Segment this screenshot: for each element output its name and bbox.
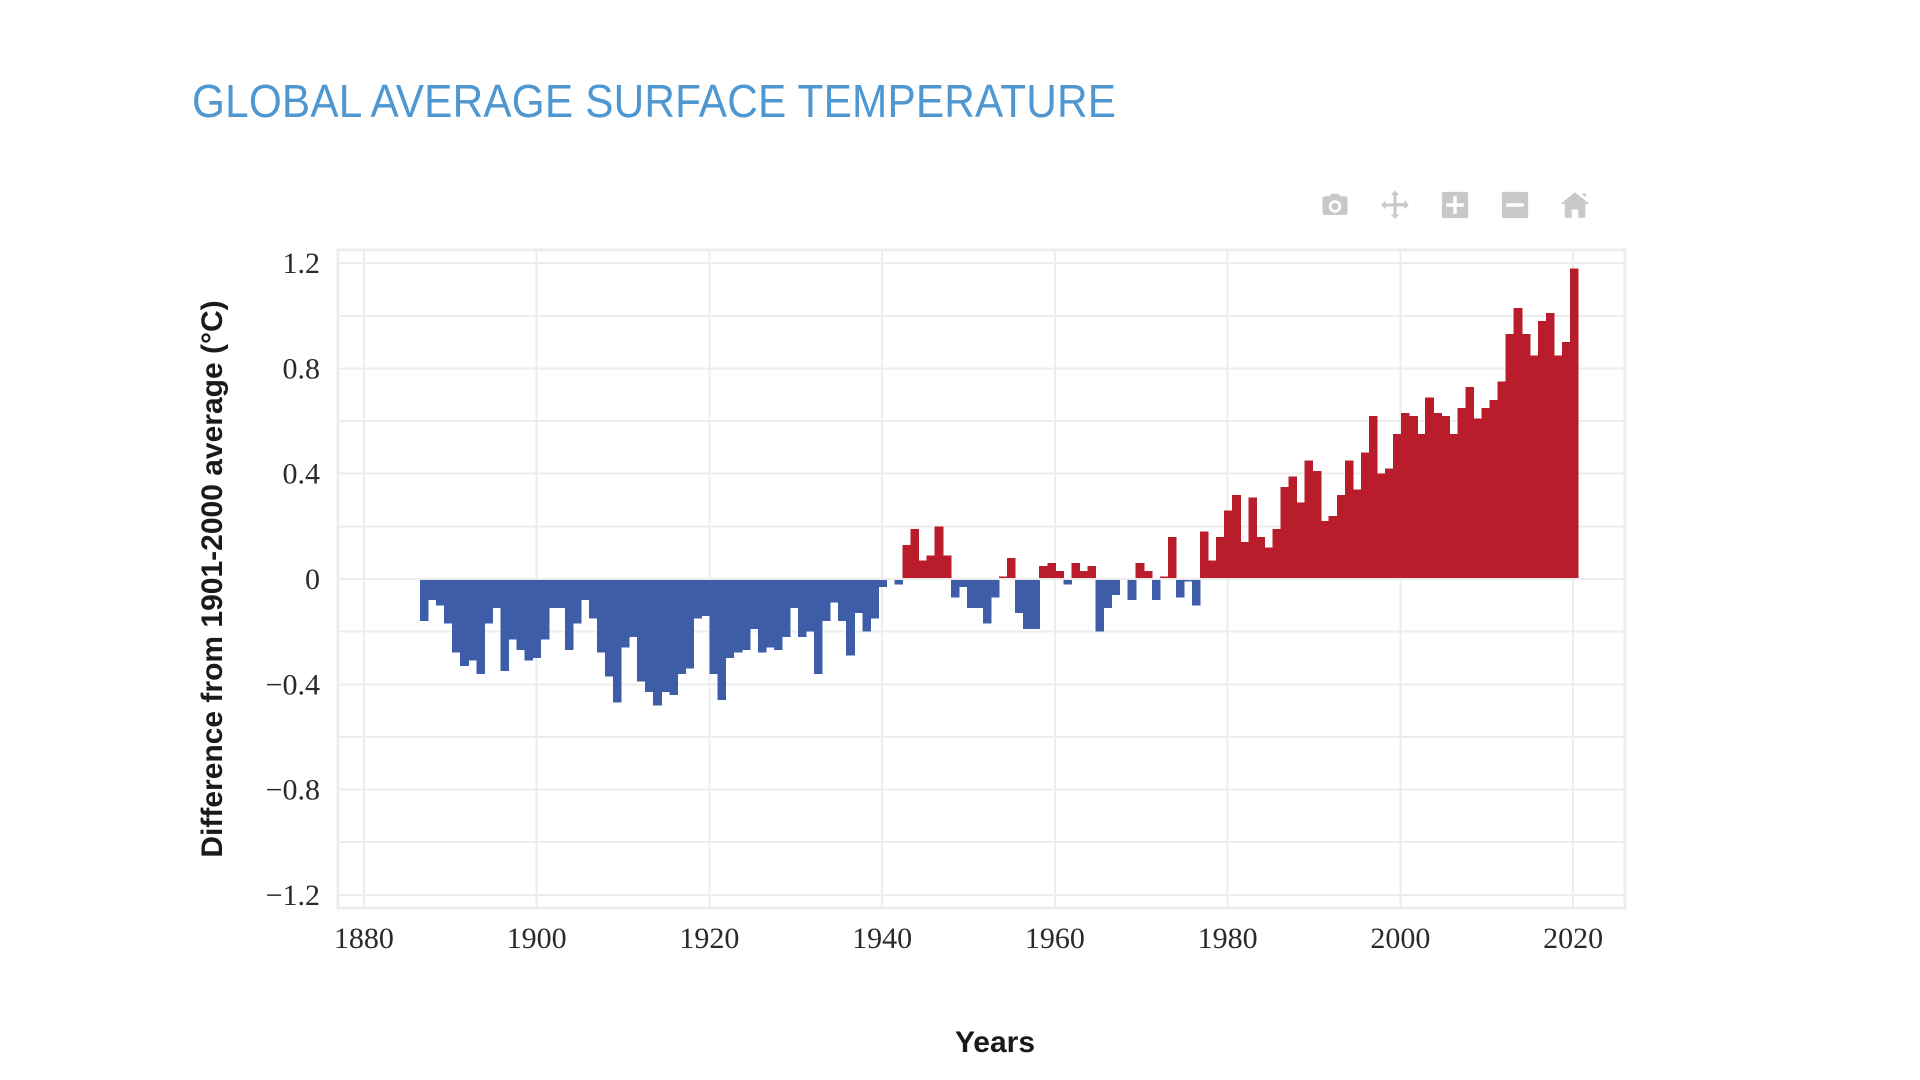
y-axis-title: Difference from 1901-2000 average (°C) (196, 300, 229, 857)
bar[interactable] (967, 579, 976, 608)
bar[interactable] (565, 579, 574, 650)
bar[interactable] (500, 579, 509, 671)
bar[interactable] (830, 579, 839, 603)
bar[interactable] (460, 579, 469, 666)
bar[interactable] (718, 579, 727, 700)
y-tick-label: 0.4 (283, 458, 321, 491)
bar[interactable] (1071, 563, 1080, 579)
temperature-anomaly-chart: 1.20.80.40−0.4−0.8−1.2 18801900192019401… (0, 0, 1920, 1080)
bar[interactable] (1047, 563, 1056, 579)
bar[interactable] (798, 579, 807, 637)
bar[interactable] (935, 526, 944, 579)
bar[interactable] (637, 579, 646, 682)
bar[interactable] (1538, 321, 1547, 579)
bar[interactable] (959, 579, 968, 587)
bar[interactable] (1498, 382, 1507, 579)
bar[interactable] (1136, 563, 1145, 579)
bar[interactable] (436, 579, 445, 605)
bar[interactable] (1297, 503, 1306, 579)
bar[interactable] (774, 579, 783, 650)
bar[interactable] (750, 579, 759, 629)
y-tick-label: −0.8 (266, 774, 320, 807)
bar[interactable] (1441, 416, 1450, 579)
bar[interactable] (1321, 521, 1330, 579)
bar[interactable] (1313, 471, 1322, 579)
bar[interactable] (1023, 579, 1032, 629)
bar[interactable] (927, 555, 936, 579)
bar[interactable] (1554, 355, 1563, 579)
bar[interactable] (1514, 308, 1523, 579)
x-tick-label: 1880 (334, 922, 394, 955)
bar[interactable] (806, 579, 815, 632)
bar[interactable] (814, 579, 823, 674)
x-tick-label: 1920 (679, 922, 739, 955)
bar[interactable] (1248, 497, 1257, 579)
bar[interactable] (1200, 532, 1209, 579)
x-axis-ticks: 18801900192019401960198020002020 (334, 922, 1603, 955)
x-tick-label: 2020 (1543, 922, 1603, 955)
bar[interactable] (1369, 416, 1378, 579)
bar[interactable] (822, 579, 831, 621)
bar[interactable] (1055, 571, 1064, 579)
bar[interactable] (573, 579, 582, 624)
bar[interactable] (870, 579, 879, 618)
bar[interactable] (508, 579, 517, 640)
x-tick-label: 1900 (507, 922, 567, 955)
bar[interactable] (597, 579, 606, 653)
bar[interactable] (846, 579, 855, 655)
bar[interactable] (621, 579, 630, 647)
bar[interactable] (549, 579, 558, 608)
x-tick-label: 2000 (1370, 922, 1430, 955)
bar[interactable] (669, 579, 678, 695)
bar[interactable] (1305, 461, 1314, 579)
bar[interactable] (943, 555, 952, 579)
bar[interactable] (645, 579, 654, 692)
bar[interactable] (1216, 537, 1225, 579)
bar[interactable] (1224, 511, 1233, 579)
bar[interactable] (1240, 542, 1249, 579)
y-tick-label: −0.4 (266, 668, 320, 701)
bar[interactable] (605, 579, 614, 676)
bar[interactable] (919, 561, 928, 579)
bar[interactable] (1329, 516, 1338, 579)
bar[interactable] (1522, 334, 1531, 579)
bar[interactable] (613, 579, 622, 703)
bar[interactable] (862, 579, 871, 632)
bar[interactable] (1546, 313, 1555, 579)
bar[interactable] (444, 579, 453, 624)
bar[interactable] (476, 579, 485, 674)
bar[interactable] (1425, 397, 1434, 579)
bar[interactable] (766, 579, 775, 647)
bar[interactable] (1031, 579, 1040, 629)
bar[interactable] (742, 579, 751, 650)
bar[interactable] (726, 579, 735, 658)
bar[interactable] (1361, 453, 1370, 579)
bar[interactable] (1152, 579, 1161, 600)
bar[interactable] (653, 579, 662, 705)
bar[interactable] (1377, 474, 1386, 579)
bar[interactable] (1473, 418, 1482, 579)
x-tick-label: 1940 (852, 922, 912, 955)
bar[interactable] (1562, 342, 1571, 579)
bar[interactable] (1409, 416, 1418, 579)
bar[interactable] (1417, 434, 1426, 579)
bar[interactable] (517, 579, 526, 650)
bar[interactable] (1264, 547, 1273, 579)
bar[interactable] (1144, 571, 1153, 579)
bar[interactable] (492, 579, 501, 608)
bar[interactable] (420, 579, 429, 621)
bar[interactable] (854, 579, 863, 613)
bar[interactable] (1289, 476, 1298, 579)
bar[interactable] (1192, 579, 1201, 605)
bar[interactable] (685, 579, 694, 668)
bar[interactable] (1256, 537, 1265, 579)
bar[interactable] (468, 579, 477, 661)
bar[interactable] (1465, 387, 1474, 579)
y-tick-label: −1.2 (266, 879, 320, 912)
x-axis-title: Years (955, 1026, 1035, 1059)
bar[interactable] (661, 579, 670, 692)
bar[interactable] (1482, 408, 1491, 579)
bar[interactable] (693, 579, 702, 618)
bar[interactable] (1168, 537, 1177, 579)
chart-page: GLOBAL AVERAGE SURFACE TEMPERATURE (0, 0, 1920, 1080)
bar[interactable] (428, 579, 437, 600)
bar[interactable] (1272, 529, 1281, 579)
bar[interactable] (911, 529, 920, 579)
bar[interactable] (557, 579, 566, 608)
bar[interactable] (1570, 268, 1579, 579)
y-tick-label: 0 (305, 563, 320, 596)
bar[interactable] (677, 579, 686, 674)
bar[interactable] (790, 579, 799, 608)
bar[interactable] (1039, 566, 1048, 579)
bar[interactable] (983, 579, 992, 624)
bar[interactable] (533, 579, 542, 658)
bar[interactable] (1007, 558, 1016, 579)
bar[interactable] (1280, 487, 1289, 579)
y-axis-ticks: 1.20.80.40−0.4−0.8−1.2 (266, 247, 320, 912)
bar[interactable] (758, 579, 767, 653)
bar[interactable] (589, 579, 598, 618)
bar[interactable] (878, 579, 887, 587)
bar[interactable] (452, 579, 461, 653)
bar[interactable] (1096, 579, 1105, 632)
bar-series (420, 268, 1579, 705)
bar[interactable] (1128, 579, 1137, 600)
bar[interactable] (734, 579, 743, 653)
x-tick-label: 1980 (1198, 922, 1258, 955)
bar[interactable] (484, 579, 493, 624)
bar[interactable] (903, 545, 912, 579)
bar[interactable] (701, 579, 710, 616)
y-tick-label: 1.2 (283, 247, 321, 280)
bar[interactable] (1490, 400, 1499, 579)
y-tick-label: 0.8 (283, 352, 321, 385)
bar[interactable] (1353, 490, 1362, 579)
bar[interactable] (525, 579, 534, 661)
bar[interactable] (1345, 461, 1354, 579)
bar[interactable] (1079, 571, 1088, 579)
bar[interactable] (1112, 579, 1121, 595)
bar[interactable] (1087, 566, 1096, 579)
bar[interactable] (991, 579, 1000, 597)
bar[interactable] (1457, 408, 1466, 579)
bar[interactable] (1449, 434, 1458, 579)
bar[interactable] (975, 579, 984, 608)
bar[interactable] (710, 579, 719, 674)
bar[interactable] (1176, 579, 1185, 597)
bar[interactable] (1393, 434, 1402, 579)
bar[interactable] (838, 579, 847, 621)
bar[interactable] (1506, 334, 1515, 579)
bar[interactable] (1401, 413, 1410, 579)
bar[interactable] (541, 579, 550, 640)
bar[interactable] (1530, 355, 1539, 579)
bar[interactable] (1385, 468, 1394, 579)
x-tick-label: 1960 (1025, 922, 1085, 955)
bar[interactable] (951, 579, 960, 597)
bar[interactable] (581, 579, 590, 600)
bar[interactable] (1433, 413, 1442, 579)
bar[interactable] (1015, 579, 1024, 613)
bar[interactable] (1104, 579, 1113, 608)
bar[interactable] (629, 579, 638, 637)
bar[interactable] (1232, 495, 1241, 579)
bar[interactable] (1208, 561, 1217, 579)
bar[interactable] (782, 579, 791, 637)
bar[interactable] (1337, 495, 1346, 579)
